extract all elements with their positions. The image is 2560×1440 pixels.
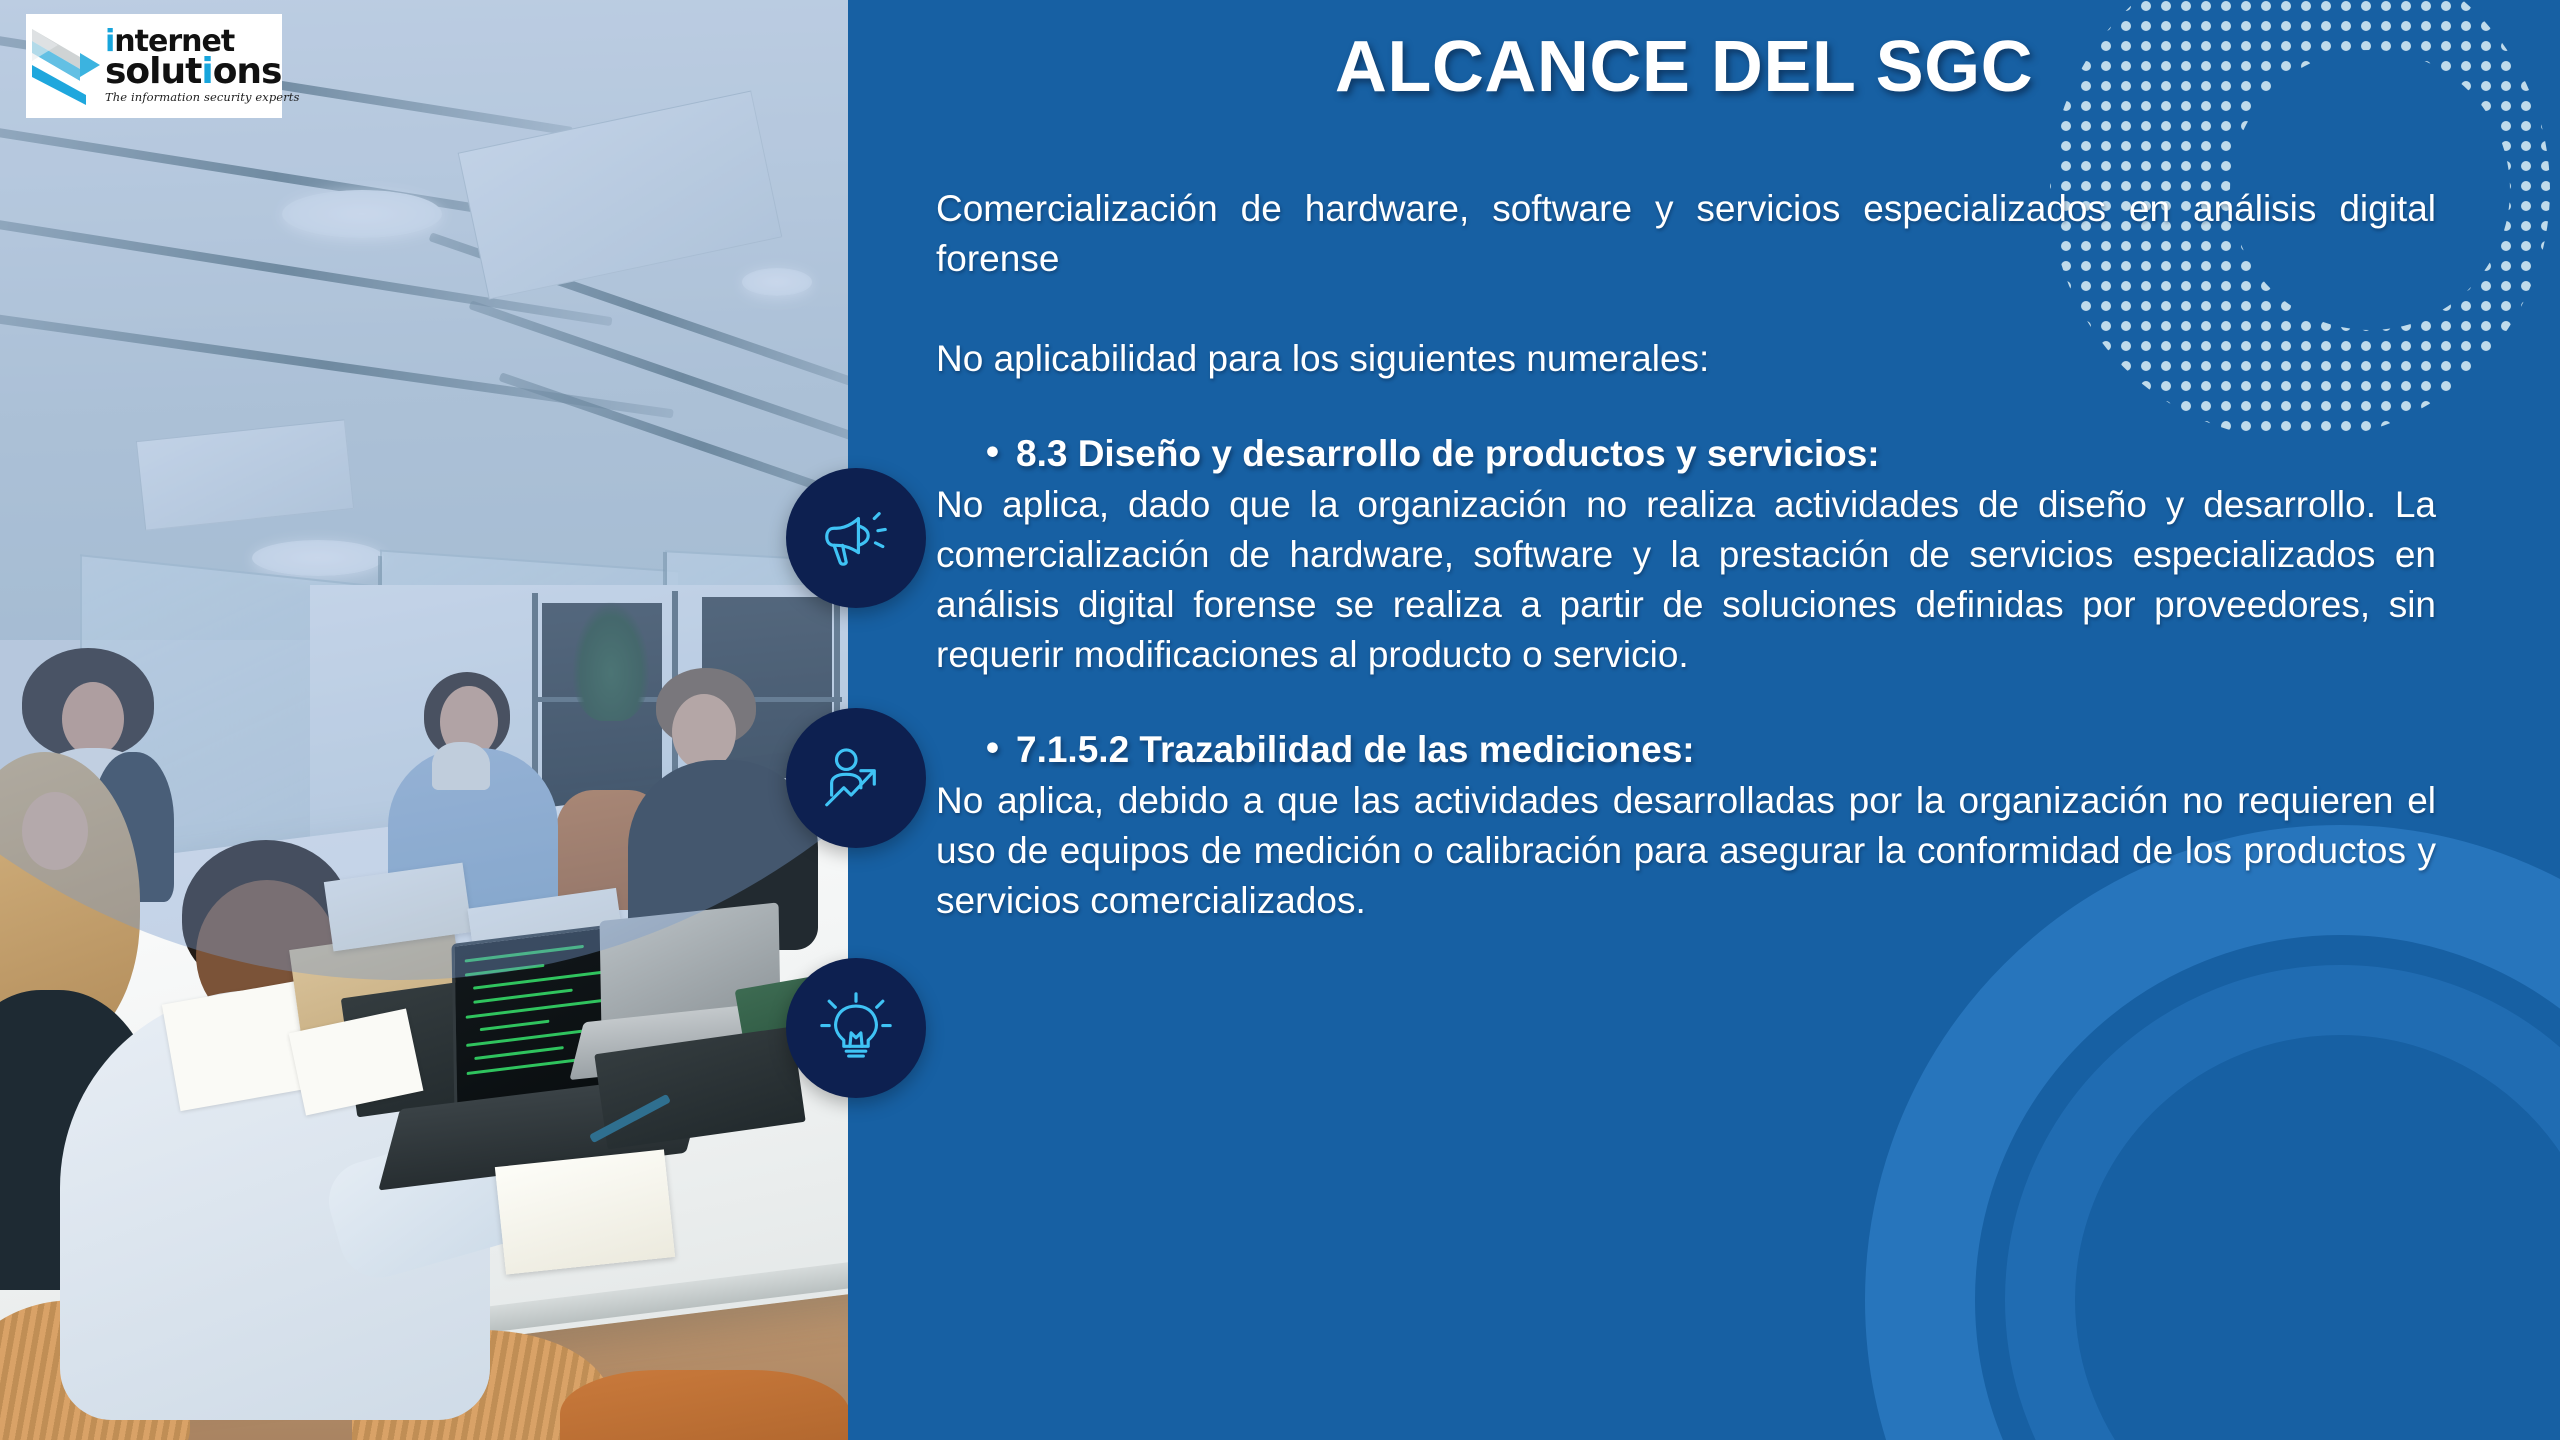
logo-line-2: solutions bbox=[105, 55, 300, 88]
bullet-heading-2: •7.1.5.2 Trazabilidad de las mediciones: bbox=[936, 724, 2436, 776]
bullet-marker: • bbox=[986, 722, 1002, 774]
megaphone-icon-badge bbox=[786, 468, 926, 608]
slide-canvas: internet solutions The information secur… bbox=[0, 0, 2560, 1440]
lightbulb-icon bbox=[817, 989, 895, 1067]
bullet-body-2: No aplica, debido a que las actividades … bbox=[936, 776, 2436, 926]
photo-artwork bbox=[0, 0, 848, 1440]
page-title: ALCANCE DEL SGC bbox=[848, 26, 2560, 108]
chevron-arrow-logo-icon bbox=[28, 23, 104, 109]
exclusions-intro: No aplicabilidad para los siguientes num… bbox=[936, 334, 2436, 384]
spacer bbox=[936, 680, 2436, 724]
bullet-heading-text: 8.3 Diseño y desarrollo de productos y s… bbox=[1016, 433, 1880, 474]
bullet-heading-1: •8.3 Diseño y desarrollo de productos y … bbox=[936, 428, 2436, 480]
office-meeting-photo bbox=[0, 0, 848, 1440]
content-panel: ALCANCE DEL SGC Comercialización de hard… bbox=[848, 0, 2560, 1440]
spacer bbox=[936, 384, 2436, 428]
bullet-heading-text: 7.1.5.2 Trazabilidad de las mediciones: bbox=[1016, 729, 1695, 770]
bullet-body-1: No aplica, dado que la organización no r… bbox=[936, 480, 2436, 680]
logo-wordmark: internet solutions The information secur… bbox=[105, 28, 300, 105]
company-logo: internet solutions The information secur… bbox=[26, 14, 282, 118]
megaphone-icon bbox=[817, 499, 895, 577]
logo-tagline: The information security experts bbox=[105, 90, 300, 104]
body-content: Comercialización de hardware, software y… bbox=[936, 184, 2436, 926]
person-growth-arrow-icon bbox=[817, 739, 895, 817]
spacer bbox=[936, 284, 2436, 334]
person-growth-arrow-icon-badge bbox=[786, 708, 926, 848]
scope-paragraph: Comercialización de hardware, software y… bbox=[936, 184, 2436, 284]
lightbulb-icon-badge bbox=[786, 958, 926, 1098]
bullet-marker: • bbox=[986, 426, 1002, 478]
